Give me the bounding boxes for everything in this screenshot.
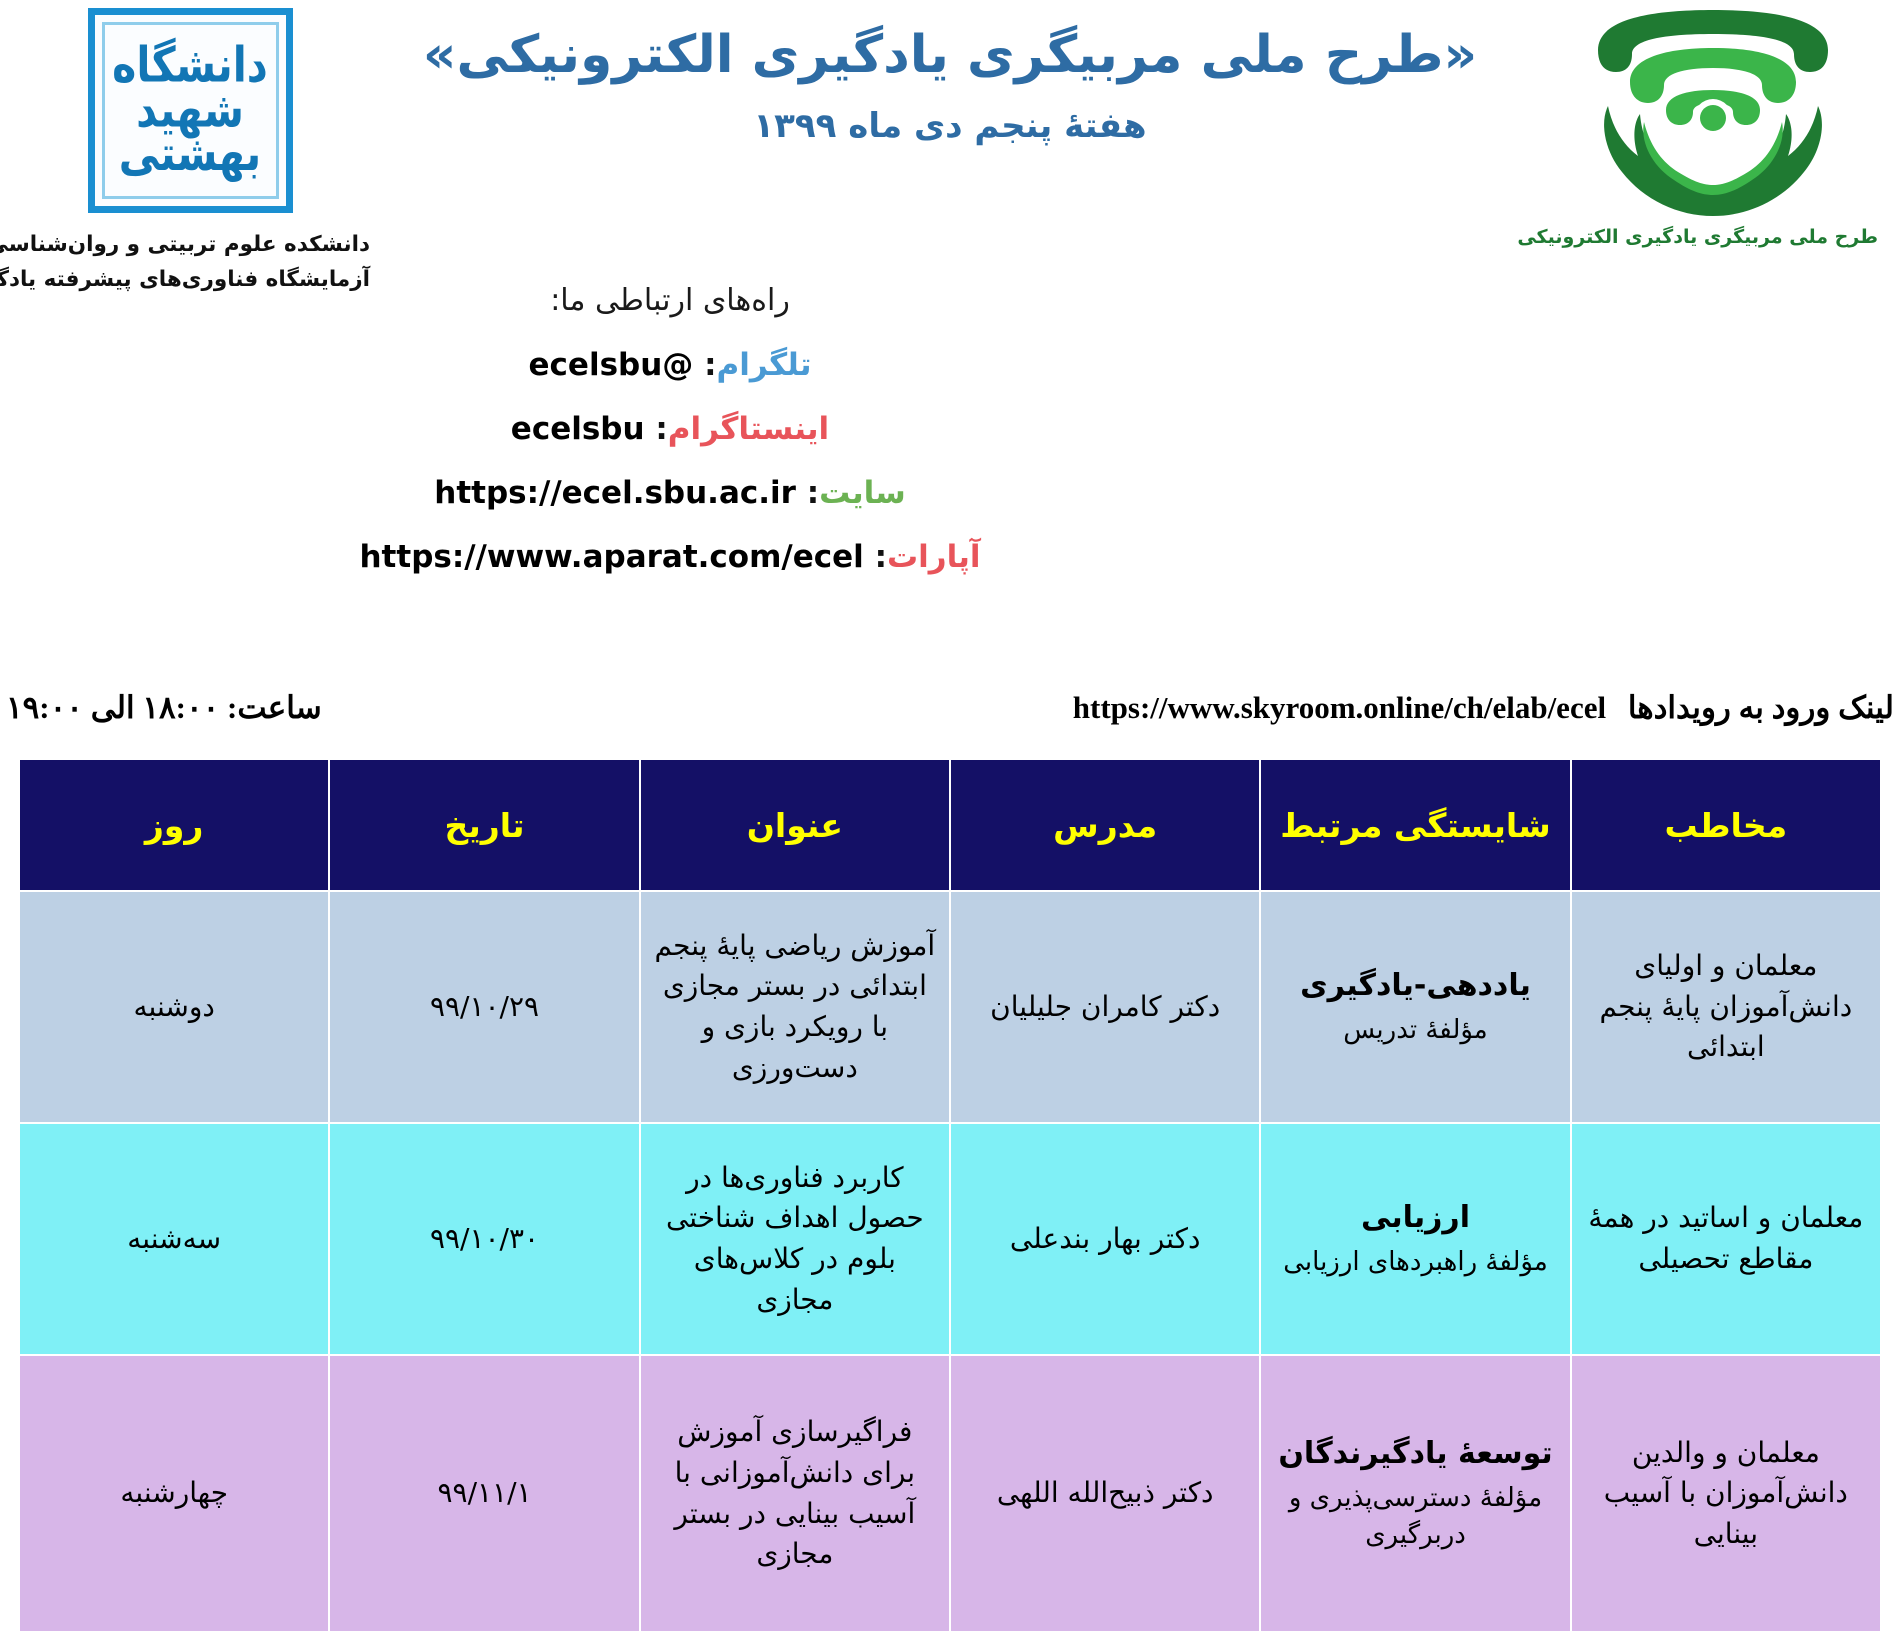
competency-main: ارزیابی bbox=[1273, 1196, 1557, 1240]
poster-title: «طرح ملی مربیگری یادگیری الکترونیکی» bbox=[380, 24, 1520, 86]
contact-aparat-value[interactable]: https://www.aparat.com/ecel bbox=[359, 539, 863, 575]
title-block: «طرح ملی مربیگری یادگیری الکترونیکی» هفت… bbox=[380, 24, 1520, 146]
schedule-table-wrapper: مخاطب شایستگی مرتبط مدرس عنوان تاریخ روز… bbox=[18, 758, 1882, 1633]
competency-sub: مؤلفهٔ دسترسی‌پذیری و دربرگیری bbox=[1273, 1480, 1557, 1555]
cell-audience: معلمان و اولیای دانش‌آموزان پایهٔ پنجم ا… bbox=[1571, 891, 1881, 1123]
table-row: معلمان و اساتید در همهٔ مقاطع تحصیلی ارز… bbox=[19, 1123, 1881, 1355]
contact-telegram-label: تلگرام bbox=[717, 347, 812, 383]
entry-link-url[interactable]: https://www.skyroom.online/ch/elab/ecel bbox=[1073, 690, 1606, 725]
competency-sub: مؤلفهٔ راهبردهای ارزیابی bbox=[1273, 1244, 1557, 1282]
cell-title: کاربرد فناوری‌ها در حصول اهداف شناختی بل… bbox=[640, 1123, 950, 1355]
poster-header: دانشگاه شهید بهشتی دانشکده علوم تربیتی و… bbox=[0, 0, 1900, 640]
contact-sep: : bbox=[807, 475, 819, 511]
column-header-day: روز bbox=[19, 759, 329, 891]
contact-aparat-label: آپارات bbox=[887, 539, 981, 575]
cell-date: ۹۹/۱۱/۱ bbox=[329, 1355, 639, 1632]
contact-sep: : bbox=[655, 411, 667, 447]
table-row: معلمان و اولیای دانش‌آموزان پایهٔ پنجم ا… bbox=[19, 891, 1881, 1123]
contact-lead: راه‌های ارتباطی ما: bbox=[0, 286, 1340, 316]
logo-line-3: بهشتی bbox=[112, 133, 268, 178]
contact-sep: : bbox=[704, 347, 716, 383]
competency-main: توسعهٔ یادگیرندگان bbox=[1273, 1432, 1557, 1476]
column-header-audience: مخاطب bbox=[1571, 759, 1881, 891]
contact-website: سایت: https://ecel.sbu.ac.ir bbox=[0, 478, 1340, 509]
cell-competency: یاددهی-یادگیری مؤلفهٔ تدریس bbox=[1260, 891, 1570, 1123]
cell-date: ۹۹/۱۰/۳۰ bbox=[329, 1123, 639, 1355]
cell-audience: معلمان و اساتید در همهٔ مقاطع تحصیلی bbox=[1571, 1123, 1881, 1355]
schedule-table: مخاطب شایستگی مرتبط مدرس عنوان تاریخ روز… bbox=[18, 758, 1882, 1633]
cell-instructor: دکتر کامران جلیلیان bbox=[950, 891, 1260, 1123]
cell-date: ۹۹/۱۰/۲۹ bbox=[329, 891, 639, 1123]
contact-aparat: آپارات: https://www.aparat.com/ecel bbox=[0, 542, 1340, 573]
cell-audience: معلمان و والدین دانش‌آموزان با آسیب بینا… bbox=[1571, 1355, 1881, 1632]
cell-title: فراگیرسازی آموزش برای دانش‌آموزانی با آس… bbox=[640, 1355, 950, 1632]
event-time: ساعت: ۱۸:۰۰ الی ۱۹:۰۰ bbox=[6, 690, 322, 726]
cell-title: آموزش ریاضی پایهٔ پنجم ابتدائی در بستر م… bbox=[640, 891, 950, 1123]
column-header-instructor: مدرس bbox=[950, 759, 1260, 891]
ecel-caption: طرح ملی مربیگری یادگیری الکترونیکی bbox=[1548, 226, 1878, 248]
university-identity: دانشگاه شهید بهشتی دانشکده علوم تربیتی و… bbox=[10, 8, 370, 298]
cell-day: چهارشنبه bbox=[19, 1355, 329, 1632]
contact-instagram: اینستاگرام: ecelsbu bbox=[0, 414, 1340, 445]
column-header-date: تاریخ bbox=[329, 759, 639, 891]
contact-telegram-value[interactable]: @ecelsbu bbox=[529, 347, 694, 383]
entry-link-label: لینک ورود به رویدادها bbox=[1628, 690, 1894, 725]
cell-instructor: دکتر ذبیح‌الله اللهی bbox=[950, 1355, 1260, 1632]
competency-sub: مؤلفهٔ تدریس bbox=[1273, 1012, 1557, 1050]
event-link-bar: لینک ورود به رویدادها https://www.skyroo… bbox=[0, 690, 1900, 750]
column-header-title: عنوان bbox=[640, 759, 950, 891]
cell-competency: ارزیابی مؤلفهٔ راهبردهای ارزیابی bbox=[1260, 1123, 1570, 1355]
contact-block: راه‌های ارتباطی ما: تلگرام: @ecelsbu این… bbox=[0, 286, 1340, 606]
contact-website-value[interactable]: https://ecel.sbu.ac.ir bbox=[434, 475, 796, 511]
faculty-name: دانشکده علوم تربیتی و روان‌شناسی bbox=[10, 227, 370, 262]
cell-instructor: دکتر بهار بندعلی bbox=[950, 1123, 1260, 1355]
column-header-competency: شایستگی مرتبط bbox=[1260, 759, 1570, 891]
shahid-beheshti-university-logo-icon: دانشگاه شهید بهشتی bbox=[88, 8, 293, 213]
poster-subtitle: هفتهٔ پنجم دی ماه ۱۳۹۹ bbox=[380, 106, 1520, 146]
contact-telegram: تلگرام: @ecelsbu bbox=[0, 350, 1340, 381]
ecel-logo-icon bbox=[1578, 10, 1848, 220]
entry-link-group: لینک ورود به رویدادها https://www.skyroo… bbox=[1073, 690, 1894, 726]
cell-day: دوشنبه bbox=[19, 891, 329, 1123]
table-row: معلمان و والدین دانش‌آموزان با آسیب بینا… bbox=[19, 1355, 1881, 1632]
competency-main: یاددهی-یادگیری bbox=[1273, 964, 1557, 1008]
contact-instagram-label: اینستاگرام bbox=[668, 411, 829, 447]
cell-day: سه‌شنبه bbox=[19, 1123, 329, 1355]
contact-website-label: سایت bbox=[819, 475, 906, 511]
table-header-row: مخاطب شایستگی مرتبط مدرس عنوان تاریخ روز bbox=[19, 759, 1881, 891]
cell-competency: توسعهٔ یادگیرندگان مؤلفهٔ دسترسی‌پذیری و… bbox=[1260, 1355, 1570, 1632]
contact-sep: : bbox=[875, 539, 887, 575]
ecel-identity: طرح ملی مربیگری یادگیری الکترونیکی bbox=[1548, 10, 1878, 248]
contact-instagram-value[interactable]: ecelsbu bbox=[511, 411, 645, 447]
